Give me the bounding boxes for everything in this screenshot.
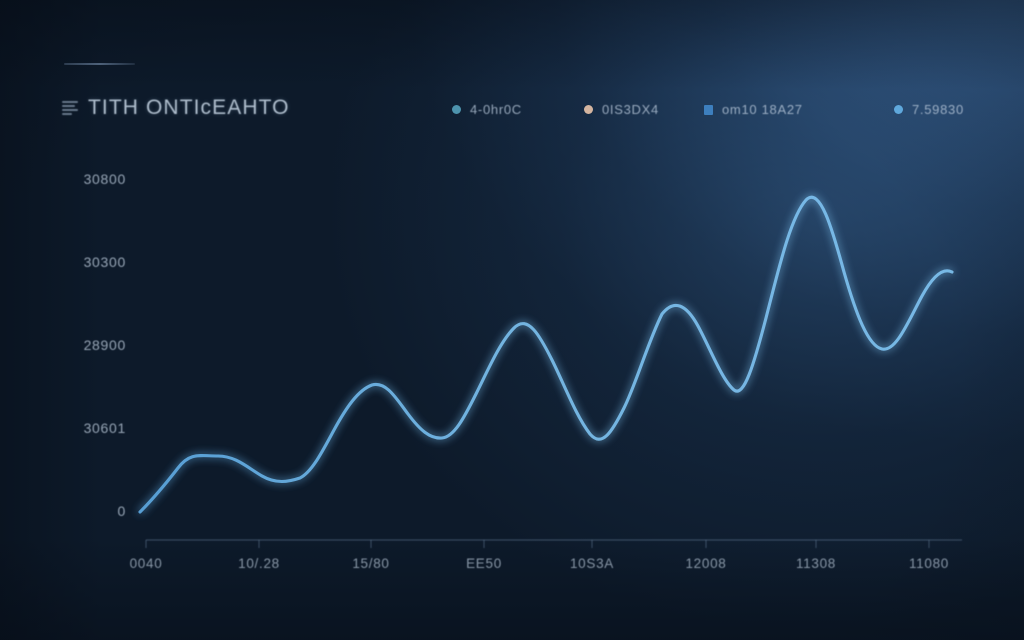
- legend-label-4: 7.59830: [912, 102, 964, 117]
- y-axis-tick-label-1: 30800: [84, 171, 126, 187]
- legend-item-4[interactable]: 7.59830: [894, 102, 964, 117]
- y-axis-tick-1: 30800: [54, 171, 126, 189]
- grid-lines: [132, 180, 962, 429]
- y-axis-tick-label-5: 0: [118, 503, 127, 519]
- y-axis-tick-4: 30601: [54, 420, 126, 438]
- legend-item-1[interactable]: 4-0hr0C: [452, 102, 522, 117]
- x-axis-tick-label-8: 11080: [909, 556, 949, 571]
- header-divider: [64, 63, 135, 65]
- y-axis-tick-label-4: 30601: [84, 420, 126, 436]
- x-axis-tick-label-4: EE50: [466, 556, 502, 571]
- legend-marker-dot-2: [584, 105, 593, 114]
- x-axis-tick-label-3: 15/80: [352, 556, 389, 571]
- chart-canvas: TITH ONTIcEAHTO 4-0hr0C 0IS3DX4 om10 18A…: [0, 0, 1024, 640]
- x-axis-tick-label-1: 0040: [130, 556, 163, 571]
- page-title: TITH ONTIcEAHTO: [88, 96, 290, 120]
- y-axis-tick-2: 30300: [54, 254, 126, 272]
- drop-lines: [178, 200, 938, 536]
- legend-marker-square-3: [704, 105, 713, 115]
- legend-marker-dot-1: [452, 105, 461, 114]
- x-axis-tick-label-7: 11308: [796, 556, 836, 571]
- x-axis-tick-label-5: 10S3A: [570, 556, 614, 571]
- legend-label-3: om10 18A27: [722, 102, 803, 117]
- legend-label-1: 4-0hr0C: [470, 102, 522, 117]
- y-axis-tick-label-3: 28900: [84, 337, 126, 353]
- legend-item-2[interactable]: 0IS3DX4: [584, 102, 659, 117]
- chart-lines-icon: [62, 100, 79, 116]
- x-axis-line: [146, 540, 962, 548]
- x-axis-tick-label-2: 10/.28: [238, 556, 280, 571]
- y-axis-tick-5: 0: [54, 503, 126, 521]
- chart-legend: 4-0hr0C 0IS3DX4 om10 18A27 7.59830: [452, 102, 972, 124]
- y-axis-tick-3: 28900: [54, 337, 126, 355]
- legend-label-2: 0IS3DX4: [602, 102, 659, 117]
- legend-marker-dot-4: [894, 105, 903, 114]
- chart-title-row: TITH ONTIcEAHTO: [62, 96, 290, 120]
- x-axis-tick-label-6: 12008: [685, 556, 726, 571]
- data-line-series-1: [140, 197, 952, 512]
- legend-item-3[interactable]: om10 18A27: [704, 102, 803, 117]
- y-axis-tick-label-2: 30300: [84, 254, 126, 270]
